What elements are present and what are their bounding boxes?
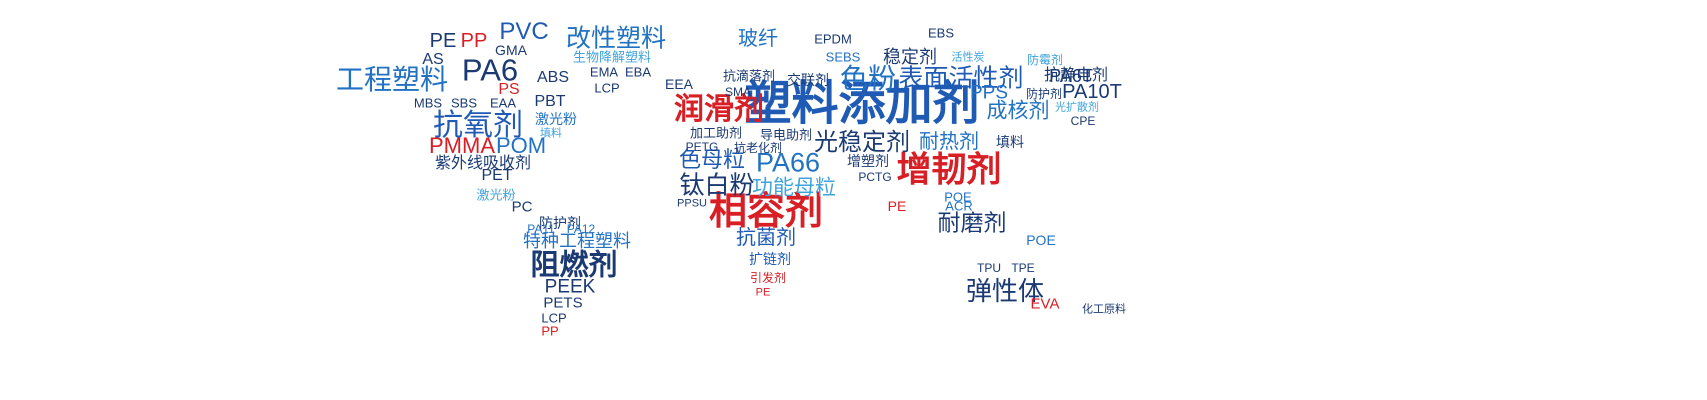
- cloud-word[interactable]: 功能母粒: [752, 178, 836, 199]
- cloud-word[interactable]: EMA: [590, 66, 618, 79]
- cloud-word[interactable]: 工程塑料: [336, 66, 448, 94]
- cloud-word[interactable]: 防护剂: [1026, 88, 1062, 100]
- cloud-word[interactable]: 耐磨剂: [938, 212, 1007, 235]
- cloud-word[interactable]: 增塑剂: [847, 154, 889, 168]
- cloud-word[interactable]: 抗老化剂: [734, 142, 782, 154]
- cloud-word[interactable]: 扩链剂: [749, 252, 791, 266]
- cloud-word[interactable]: EAA: [490, 97, 516, 110]
- cloud-word[interactable]: TPE: [1011, 262, 1034, 274]
- cloud-word[interactable]: 导电助剂: [760, 129, 812, 142]
- cloud-word[interactable]: EVA: [1031, 297, 1060, 312]
- cloud-word[interactable]: 光稳定剂: [814, 131, 910, 155]
- cloud-word[interactable]: 抗静电剂: [1044, 68, 1108, 84]
- cloud-word[interactable]: 生物降解塑料: [573, 51, 651, 64]
- cloud-word[interactable]: 色粉: [840, 65, 896, 93]
- cloud-word[interactable]: 填料: [996, 135, 1024, 149]
- cloud-word[interactable]: SEBS: [826, 51, 861, 64]
- cloud-word[interactable]: PBT: [534, 94, 565, 110]
- cloud-word[interactable]: 玻纤: [738, 29, 778, 49]
- cloud-word[interactable]: 填料: [540, 129, 562, 140]
- cloud-word[interactable]: PE: [430, 31, 457, 51]
- cloud-word[interactable]: 激光粉: [476, 189, 515, 202]
- cloud-word[interactable]: MBS: [414, 97, 442, 110]
- cloud-word[interactable]: 引发剂: [750, 272, 786, 284]
- cloud-word[interactable]: 增韧剂: [896, 153, 1001, 188]
- cloud-word[interactable]: PE: [888, 199, 907, 213]
- cloud-word[interactable]: PPS: [970, 84, 1008, 103]
- cloud-word[interactable]: SMA: [725, 86, 751, 98]
- cloud-word[interactable]: EBA: [625, 66, 651, 79]
- cloud-word[interactable]: PC: [512, 200, 533, 215]
- cloud-word[interactable]: PCTG: [858, 171, 891, 183]
- cloud-word[interactable]: 抗滴落剂: [723, 70, 775, 83]
- cloud-word[interactable]: PETG: [686, 141, 719, 153]
- cloud-word[interactable]: 加工助剂: [690, 127, 742, 140]
- cloud-word[interactable]: SBS: [451, 97, 477, 110]
- cloud-word[interactable]: PP: [461, 31, 488, 51]
- cloud-word[interactable]: 钛白粉: [679, 174, 754, 199]
- cloud-word[interactable]: TPU: [977, 262, 1001, 274]
- cloud-word[interactable]: PE: [756, 288, 771, 299]
- cloud-word[interactable]: AS: [422, 52, 443, 68]
- cloud-word[interactable]: CPE: [1071, 115, 1096, 127]
- cloud-word[interactable]: 耐热剂: [919, 132, 979, 152]
- cloud-word[interactable]: 改性塑料: [566, 27, 666, 52]
- cloud-word[interactable]: PET: [481, 168, 512, 184]
- cloud-word[interactable]: 活性炭: [952, 53, 985, 64]
- cloud-word[interactable]: ABS: [537, 70, 569, 86]
- cloud-word[interactable]: 防霉剂: [1027, 54, 1063, 66]
- cloud-word[interactable]: 成核剂: [987, 101, 1050, 122]
- cloud-word[interactable]: EEA: [665, 77, 693, 91]
- cloud-word[interactable]: 稳定剂: [883, 48, 937, 66]
- cloud-word[interactable]: EPDM: [814, 33, 852, 46]
- cloud-word[interactable]: 激光粉: [535, 112, 577, 126]
- cloud-word[interactable]: PA11: [527, 223, 555, 235]
- cloud-word[interactable]: PMMA: [429, 135, 495, 157]
- cloud-word[interactable]: EBS: [928, 27, 954, 40]
- word-cloud-canvas: 塑料添加剂相容剂增韧剂润滑剂工程塑料抗氧剂阻燃剂PA6改性塑料色粉表面活性剂光稳…: [0, 0, 1707, 400]
- cloud-word[interactable]: POE: [1026, 233, 1056, 247]
- cloud-word[interactable]: 润滑剂: [674, 95, 764, 125]
- cloud-word[interactable]: 光扩散剂: [1055, 103, 1099, 114]
- cloud-word[interactable]: PP: [541, 325, 558, 338]
- cloud-word[interactable]: PA12: [567, 223, 595, 235]
- cloud-word[interactable]: PVC: [499, 20, 548, 44]
- cloud-word[interactable]: 化工原料: [1082, 305, 1126, 316]
- cloud-word[interactable]: PETS: [543, 296, 582, 311]
- cloud-word[interactable]: 抗菌剂: [736, 228, 796, 248]
- cloud-word[interactable]: PPSU: [677, 199, 707, 210]
- cloud-word[interactable]: POM: [496, 135, 546, 157]
- cloud-word[interactable]: ACR: [945, 200, 972, 213]
- cloud-word[interactable]: GMA: [495, 43, 527, 57]
- cloud-word[interactable]: 交联剂: [787, 73, 829, 87]
- cloud-word[interactable]: LCP: [594, 82, 619, 95]
